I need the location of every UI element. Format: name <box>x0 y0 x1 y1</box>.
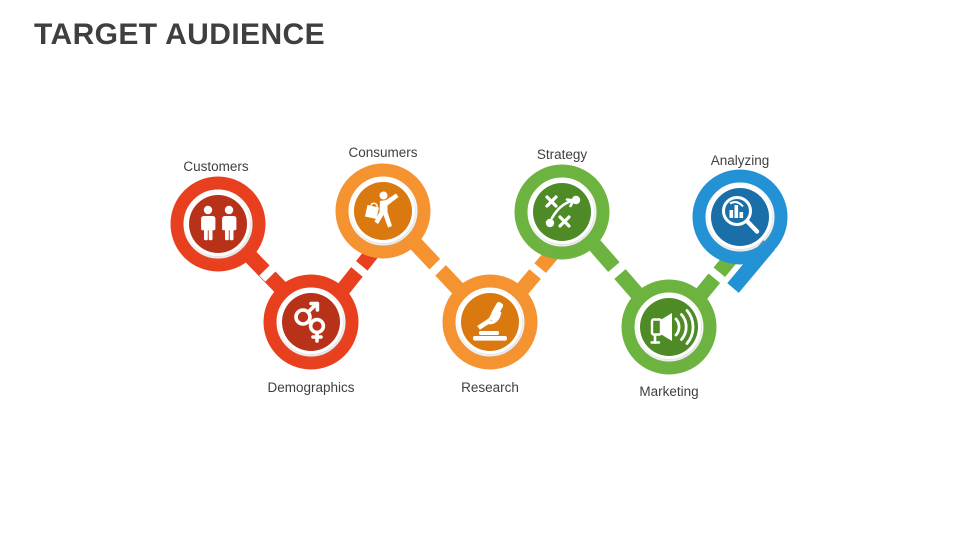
label-demographics: Demographics <box>267 380 354 395</box>
step-customers[interactable] <box>177 183 259 265</box>
label-customers: Customers <box>183 159 248 174</box>
slide-canvas: TARGET AUDIENCE <box>0 0 960 540</box>
step-demographics[interactable] <box>270 281 352 363</box>
step-strategy[interactable] <box>521 171 603 253</box>
label-analyzing: Analyzing <box>711 153 770 168</box>
handle-demographics <box>341 253 372 292</box>
label-marketing: Marketing <box>639 384 698 399</box>
target-audience-diagram <box>0 0 960 540</box>
label-research: Research <box>461 380 519 395</box>
handle-consumers <box>413 241 461 292</box>
strategy-disc <box>533 183 591 241</box>
handle-customers <box>248 254 281 288</box>
handle-marketing <box>699 258 731 297</box>
step-research[interactable] <box>449 281 531 363</box>
step-analyzing[interactable] <box>699 176 781 258</box>
customers-disc <box>189 195 247 253</box>
handle-strategy <box>592 242 640 297</box>
label-consumers: Consumers <box>348 145 417 160</box>
label-strategy: Strategy <box>537 147 587 162</box>
handle-research <box>520 254 552 292</box>
step-consumers[interactable] <box>342 170 424 252</box>
step-marketing[interactable] <box>628 286 710 368</box>
